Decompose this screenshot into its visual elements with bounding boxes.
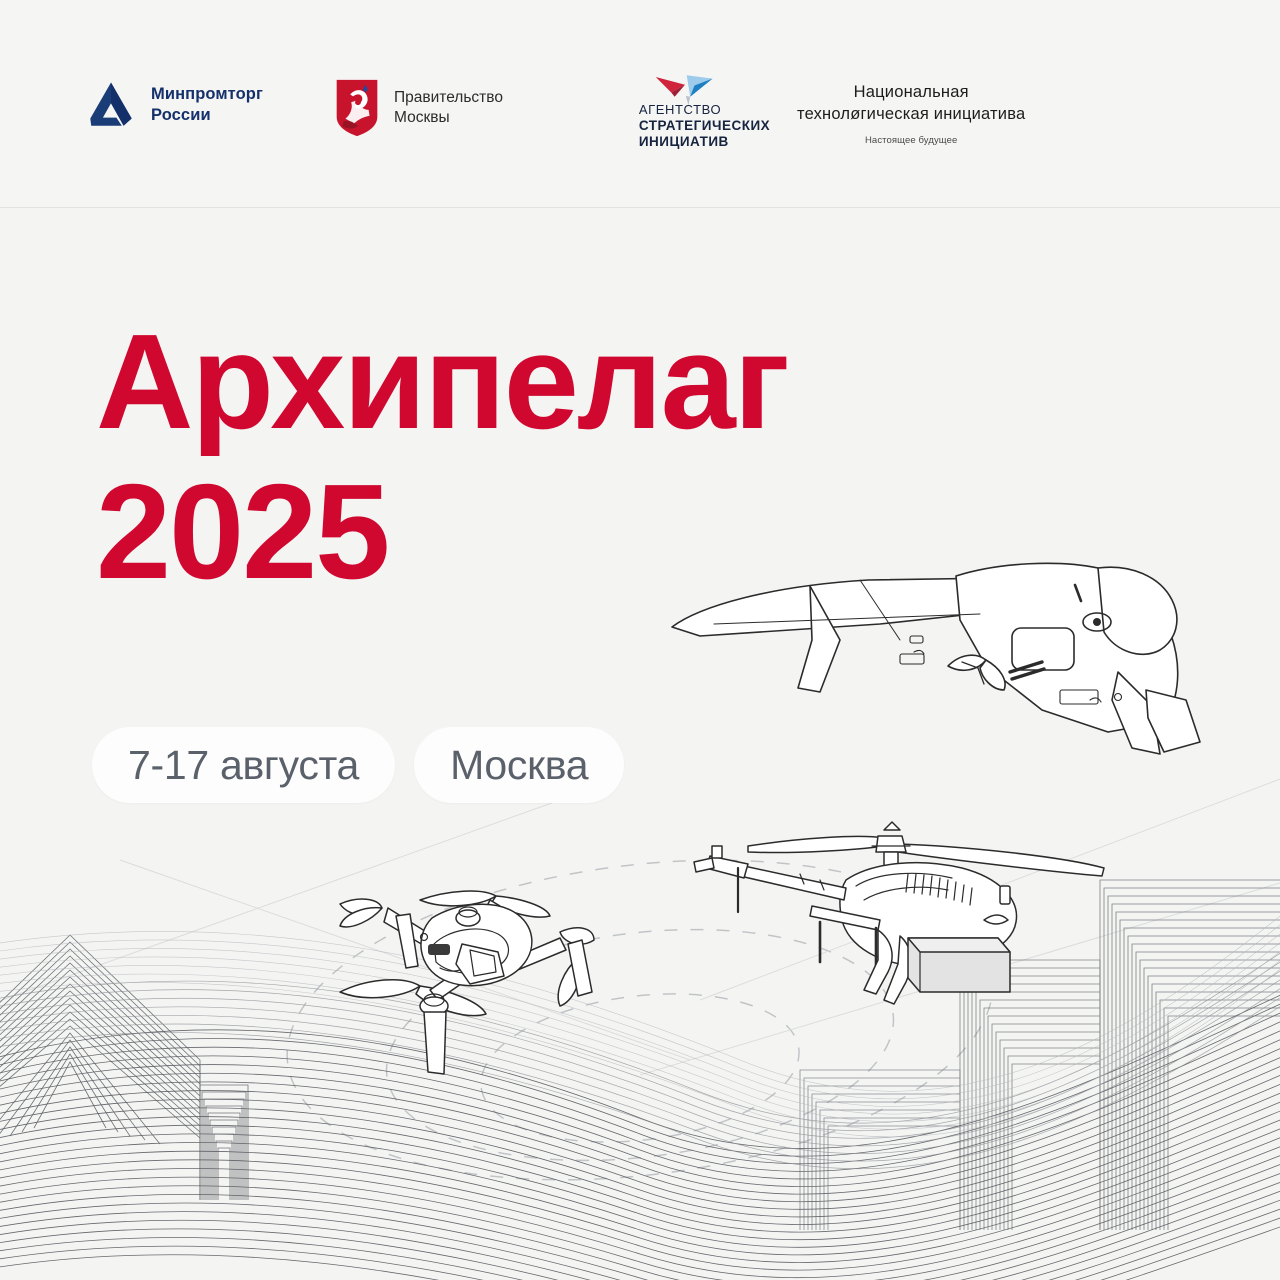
title-word: Архипелаг <box>96 306 788 457</box>
partner-logo-minpromtorg[interactable]: Минпромторг России <box>84 78 334 132</box>
nti-line1: Национальная <box>854 82 969 104</box>
moscow-government-label: Правительство Москвы <box>394 88 503 128</box>
diagonal-guide-lines <box>0 760 1280 1075</box>
minpromtorg-triangle-logo-icon <box>84 78 138 132</box>
partner-logo-moscow-government[interactable]: Правительство Москвы <box>334 78 564 138</box>
partner-logo-header: Минпромторг России Правительство Москвы <box>0 0 1280 208</box>
asi-line3: ИНИЦИАТИВ <box>639 134 770 150</box>
dashed-flight-path-illustration <box>269 823 1011 1217</box>
nti-tagline: Настоящее будущее <box>865 135 957 146</box>
asi-line1: АГЕНТСТВО <box>639 102 770 118</box>
title-year: 2025 <box>96 466 788 598</box>
partner-logo-asi[interactable]: АГЕНТСТВО СТРАТЕГИЧЕСКИХ ИНИЦИАТИВ <box>564 70 797 151</box>
quadcopter-drone-illustration <box>340 891 594 1074</box>
partner-logo-row: Минпромторг России Правительство Москвы <box>0 0 1025 151</box>
poster-root: Минпромторг России Правительство Москвы <box>0 0 1280 1280</box>
asi-line2: СТРАТЕГИЧЕСКИХ <box>639 118 770 134</box>
minpromtorg-line1: Минпромторг <box>151 84 263 105</box>
moscow-line1: Правительство <box>394 88 503 108</box>
contour-line-cityscape-illustration <box>0 880 1280 1280</box>
moscow-line2: Москвы <box>394 108 503 128</box>
partner-logo-nti[interactable]: Национальная технолøгическая инициатива … <box>797 82 1025 146</box>
moscow-coat-of-arms-icon <box>334 78 380 138</box>
dates-pill[interactable]: 7-17 августа <box>92 727 395 803</box>
nti-line2: технолøгическая инициатива <box>797 104 1025 126</box>
info-pill-group: 7-17 августа Москва <box>92 727 624 803</box>
minpromtorg-label: Минпромторг России <box>151 84 263 126</box>
asi-label: АГЕНТСТВО СТРАТЕГИЧЕСКИХ ИНИЦИАТИВ <box>639 102 770 151</box>
cargo-helicopter-drone-illustration <box>694 822 1104 1004</box>
page-title: Архипелаг 2025 <box>96 316 788 599</box>
city-pill[interactable]: Москва <box>414 727 624 803</box>
minpromtorg-line2: России <box>151 105 263 126</box>
